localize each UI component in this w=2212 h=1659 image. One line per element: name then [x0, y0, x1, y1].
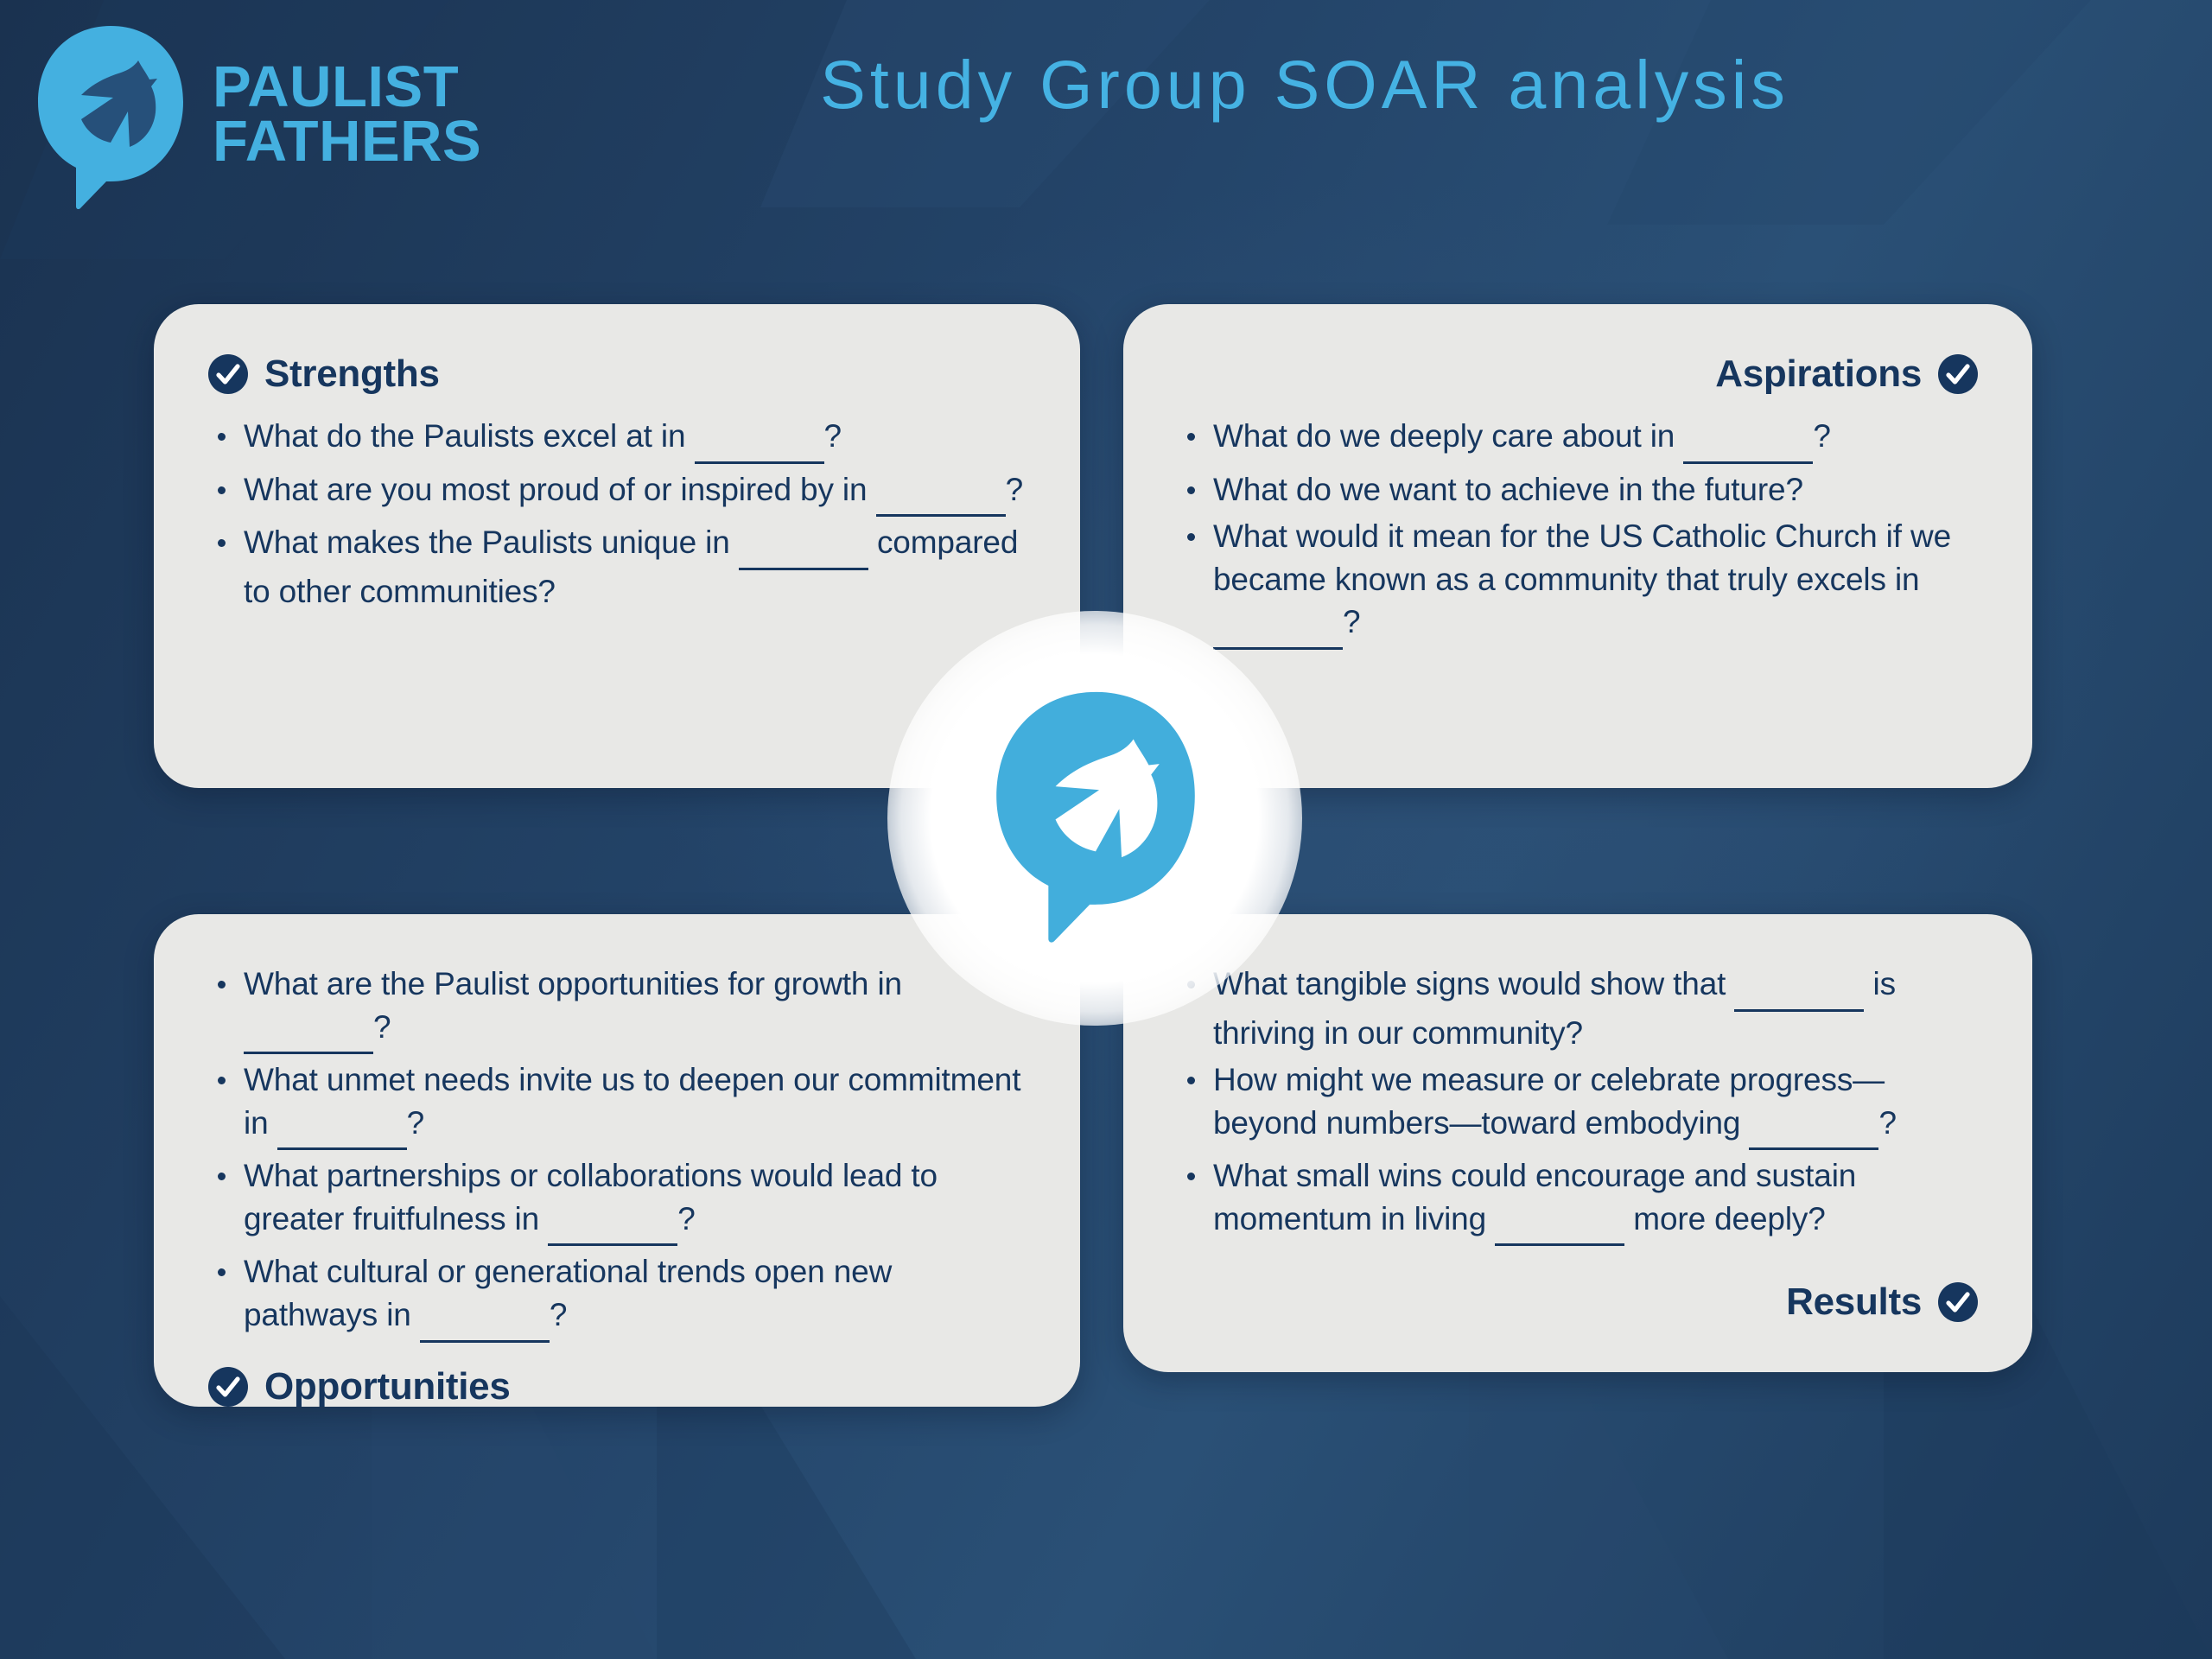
question-item: What do we want to achieve in the future… — [1177, 468, 1979, 512]
center-logo-emblem — [887, 611, 1302, 1026]
fill-in-blank[interactable] — [876, 472, 1006, 518]
paulist-logo-icon — [989, 687, 1202, 946]
question-item: What partnerships or collaborations woul… — [207, 1154, 1027, 1246]
check-circle-icon — [207, 1366, 249, 1408]
brand-wordmark-line1: PAULIST — [213, 60, 481, 115]
fill-in-blank[interactable] — [695, 418, 824, 464]
fill-in-blank[interactable] — [244, 1009, 373, 1055]
quadrant-label-opportunities: Opportunities — [264, 1365, 511, 1408]
question-item: How might we measure or celebrate progre… — [1177, 1058, 1979, 1150]
check-circle-icon — [207, 353, 249, 395]
question-item: What do the Paulists excel at in ? — [207, 415, 1027, 464]
quadrant-label-strengths: Strengths — [264, 353, 440, 396]
question-item: What do we deeply care about in ? — [1177, 415, 1979, 464]
quadrant-header-results: Results — [1177, 1281, 1979, 1324]
slide-header: PAULIST FATHERS Study Group SOAR analysi… — [0, 0, 2212, 259]
question-item: What unmet needs invite us to deepen our… — [207, 1058, 1027, 1150]
question-item: What are you most proud of or inspired b… — [207, 468, 1027, 518]
brand-wordmark: PAULIST FATHERS — [213, 24, 481, 169]
quadrant-label-results: Results — [1786, 1281, 1922, 1324]
question-item: What cultural or generational trends ope… — [207, 1250, 1027, 1342]
question-item: What small wins could encourage and sust… — [1177, 1154, 1979, 1246]
brand-wordmark-line2: FATHERS — [213, 115, 481, 169]
fill-in-blank[interactable] — [548, 1201, 677, 1247]
fill-in-blank[interactable] — [420, 1297, 550, 1343]
fill-in-blank[interactable] — [1734, 966, 1864, 1012]
brand-lockup: PAULIST FATHERS — [33, 24, 481, 210]
fill-in-blank[interactable] — [277, 1105, 407, 1151]
quadrant-header-aspirations: Aspirations — [1177, 353, 1979, 396]
question-list-strengths: What do the Paulists excel at in ?What a… — [207, 415, 1027, 613]
quadrant-label-aspirations: Aspirations — [1715, 353, 1922, 396]
question-item: What makes the Paulists unique in compar… — [207, 521, 1027, 613]
check-circle-icon — [1937, 1281, 1979, 1323]
check-circle-icon — [1937, 353, 1979, 395]
fill-in-blank[interactable] — [739, 524, 868, 570]
page-title: Study Group SOAR analysis — [665, 45, 1944, 124]
quadrant-header-strengths: Strengths — [207, 353, 1027, 396]
fill-in-blank[interactable] — [1495, 1201, 1624, 1247]
paulist-logo-icon — [33, 24, 188, 210]
fill-in-blank[interactable] — [1683, 418, 1813, 464]
fill-in-blank[interactable] — [1749, 1105, 1878, 1151]
quadrant-header-opportunities: Opportunities — [207, 1365, 1027, 1408]
